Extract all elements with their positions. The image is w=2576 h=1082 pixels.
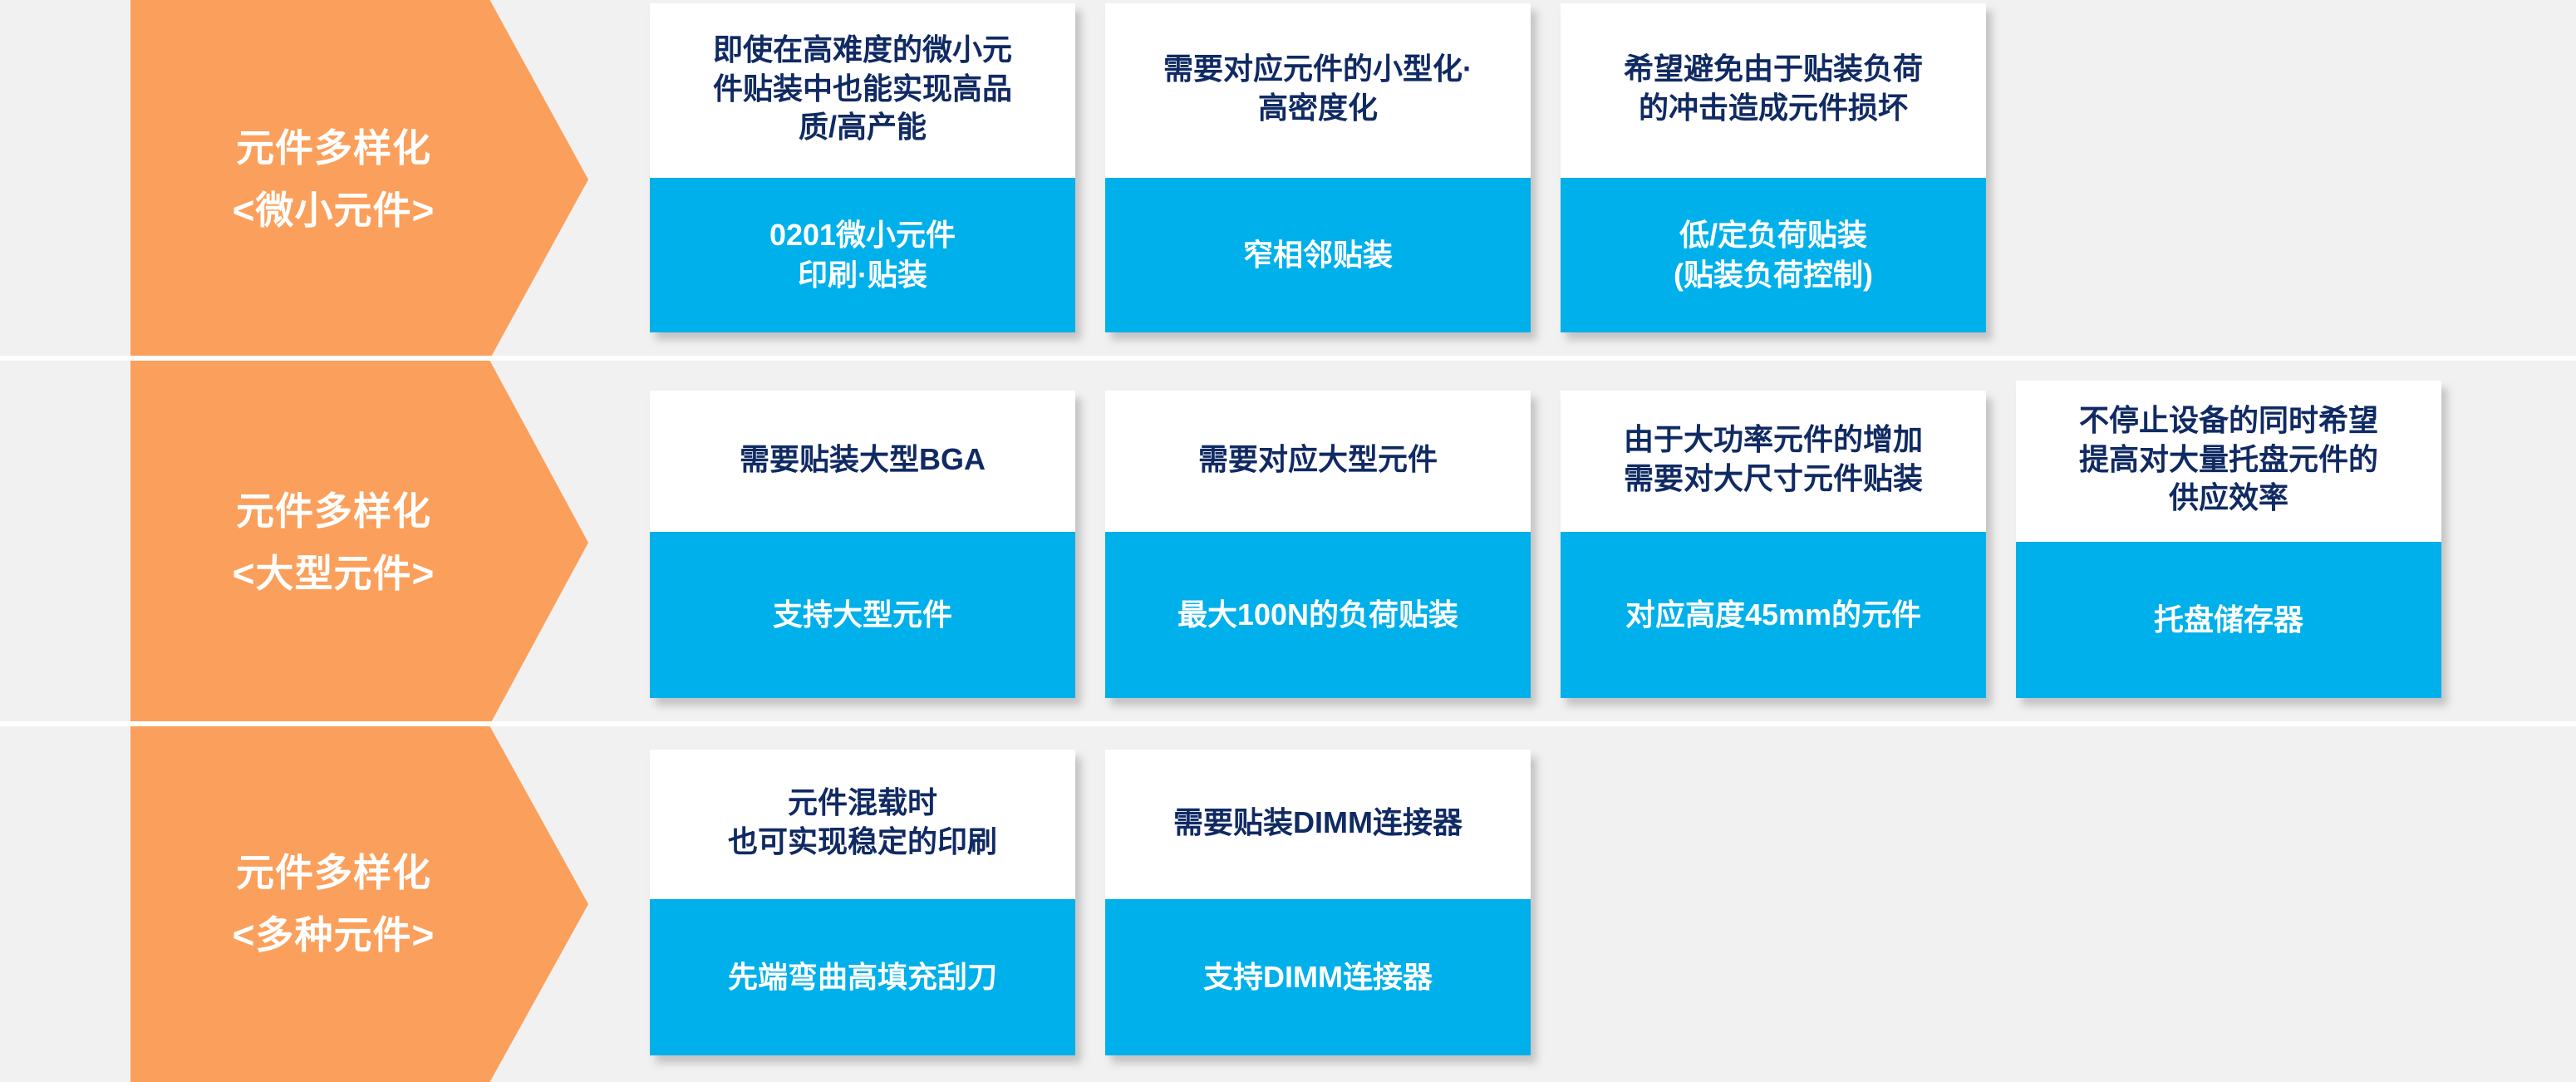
row-category-arrow-large: 元件多样化 <大型元件> [130,361,588,725]
card-challenge-panel: 希望避免由于贴装负荷 的冲击造成元件损坏 [1561,3,1986,178]
card-solution-text: 托盘储存器 [2154,600,2303,640]
card-solution-panel: 窄相邻贴装 [1105,178,1531,332]
card-solution-text: 窄相邻贴装 [1243,235,1393,275]
row-large-components: 元件多样化 <大型元件> 需要贴装大型BGA 支持大型元件 需要对应大型元件 最… [0,361,2576,725]
card-solution-panel: 0201微小元件 印刷·贴装 [650,178,1075,332]
card-solution-panel: 托盘储存器 [2016,542,2441,698]
card-challenge-text: 需要贴装DIMM连接器 [1173,804,1463,843]
card-solution-panel: 先端弯曲高填充刮刀 [650,899,1075,1055]
solution-card[interactable]: 需要贴装DIMM连接器 支持DIMM连接器 [1105,750,1531,1055]
card-solution-panel: 对应高度45mm的元件 [1561,532,1986,698]
card-solution-panel: 低/定负荷贴装 (贴装负荷控制) [1561,178,1986,332]
row-category-label-various: 元件多样化 <多种元件> [233,842,435,966]
solution-card[interactable]: 由于大功率元件的增加 需要对大尺寸元件贴装 对应高度45mm的元件 [1561,391,1986,698]
solution-card[interactable]: 元件混载时 也可实现稳定的印刷 先端弯曲高填充刮刀 [650,750,1075,1055]
card-solution-text: 0201微小元件 印刷·贴装 [769,215,956,294]
row-category-label-large: 元件多样化 <大型元件> [233,480,435,604]
card-solution-text: 先端弯曲高填充刮刀 [728,957,997,997]
card-solution-text: 最大100N的负荷贴装 [1177,595,1458,635]
card-challenge-text: 由于大功率元件的增加 需要对大尺寸元件贴装 [1624,421,1923,499]
card-solution-text: 对应高度45mm的元件 [1625,595,1921,635]
solution-card[interactable]: 需要对应大型元件 最大100N的负荷贴装 [1105,391,1531,698]
row-category-label-tiny: 元件多样化 <微小元件> [233,117,435,241]
card-challenge-text: 需要对应大型元件 [1198,440,1438,480]
row-various-components: 元件多样化 <多种元件> 元件混载时 也可实现稳定的印刷 先端弯曲高填充刮刀 需… [0,726,2576,1082]
card-solution-panel: 支持DIMM连接器 [1105,899,1531,1055]
row-category-arrow-various: 元件多样化 <多种元件> [130,726,588,1082]
card-challenge-panel: 即使在高难度的微小元 件贴装中也能实现高品 质/高产能 [650,3,1075,178]
solution-card[interactable]: 即使在高难度的微小元 件贴装中也能实现高品 质/高产能 0201微小元件 印刷·… [650,3,1075,332]
card-challenge-text: 不停止设备的同时希望 提高对大量托盘元件的 供应效率 [2079,401,2378,518]
card-challenge-text: 元件混载时 也可实现稳定的印刷 [728,784,997,862]
card-solution-text: 低/定负荷贴装 (贴装负荷控制) [1674,215,1873,294]
card-challenge-text: 需要贴装大型BGA [740,440,986,480]
solution-card[interactable]: 不停止设备的同时希望 提高对大量托盘元件的 供应效率 托盘储存器 [2016,381,2441,698]
card-challenge-panel: 需要贴装大型BGA [650,391,1075,532]
card-challenge-panel: 需要贴装DIMM连接器 [1105,750,1531,899]
card-solution-text: 支持大型元件 [773,595,952,635]
card-challenge-text: 需要对应元件的小型化· 高密度化 [1163,50,1472,128]
card-challenge-text: 即使在高难度的微小元 件贴装中也能实现高品 质/高产能 [713,31,1012,147]
card-challenge-text: 希望避免由于贴装负荷 的冲击造成元件损坏 [1624,50,1923,128]
card-challenge-panel: 不停止设备的同时希望 提高对大量托盘元件的 供应效率 [2016,381,2441,542]
card-solution-panel: 支持大型元件 [650,532,1075,698]
card-challenge-panel: 由于大功率元件的增加 需要对大尺寸元件贴装 [1561,391,1986,532]
card-solution-text: 支持DIMM连接器 [1203,957,1433,997]
card-challenge-panel: 需要对应大型元件 [1105,391,1531,532]
card-solution-panel: 最大100N的负荷贴装 [1105,532,1531,698]
card-challenge-panel: 需要对应元件的小型化· 高密度化 [1105,3,1531,178]
card-challenge-panel: 元件混载时 也可实现稳定的印刷 [650,750,1075,899]
solution-card[interactable]: 希望避免由于贴装负荷 的冲击造成元件损坏 低/定负荷贴装 (贴装负荷控制) [1561,3,1986,332]
solution-card[interactable]: 需要对应元件的小型化· 高密度化 窄相邻贴装 [1105,3,1531,332]
solution-card[interactable]: 需要贴装大型BGA 支持大型元件 [650,391,1075,698]
solution-matrix-board: 元件多样化 <微小元件> 即使在高难度的微小元 件贴装中也能实现高品 质/高产能… [0,0,2576,1082]
row-tiny-components: 元件多样化 <微小元件> 即使在高难度的微小元 件贴装中也能实现高品 质/高产能… [0,0,2576,359]
row-category-arrow-tiny: 元件多样化 <微小元件> [130,0,588,359]
